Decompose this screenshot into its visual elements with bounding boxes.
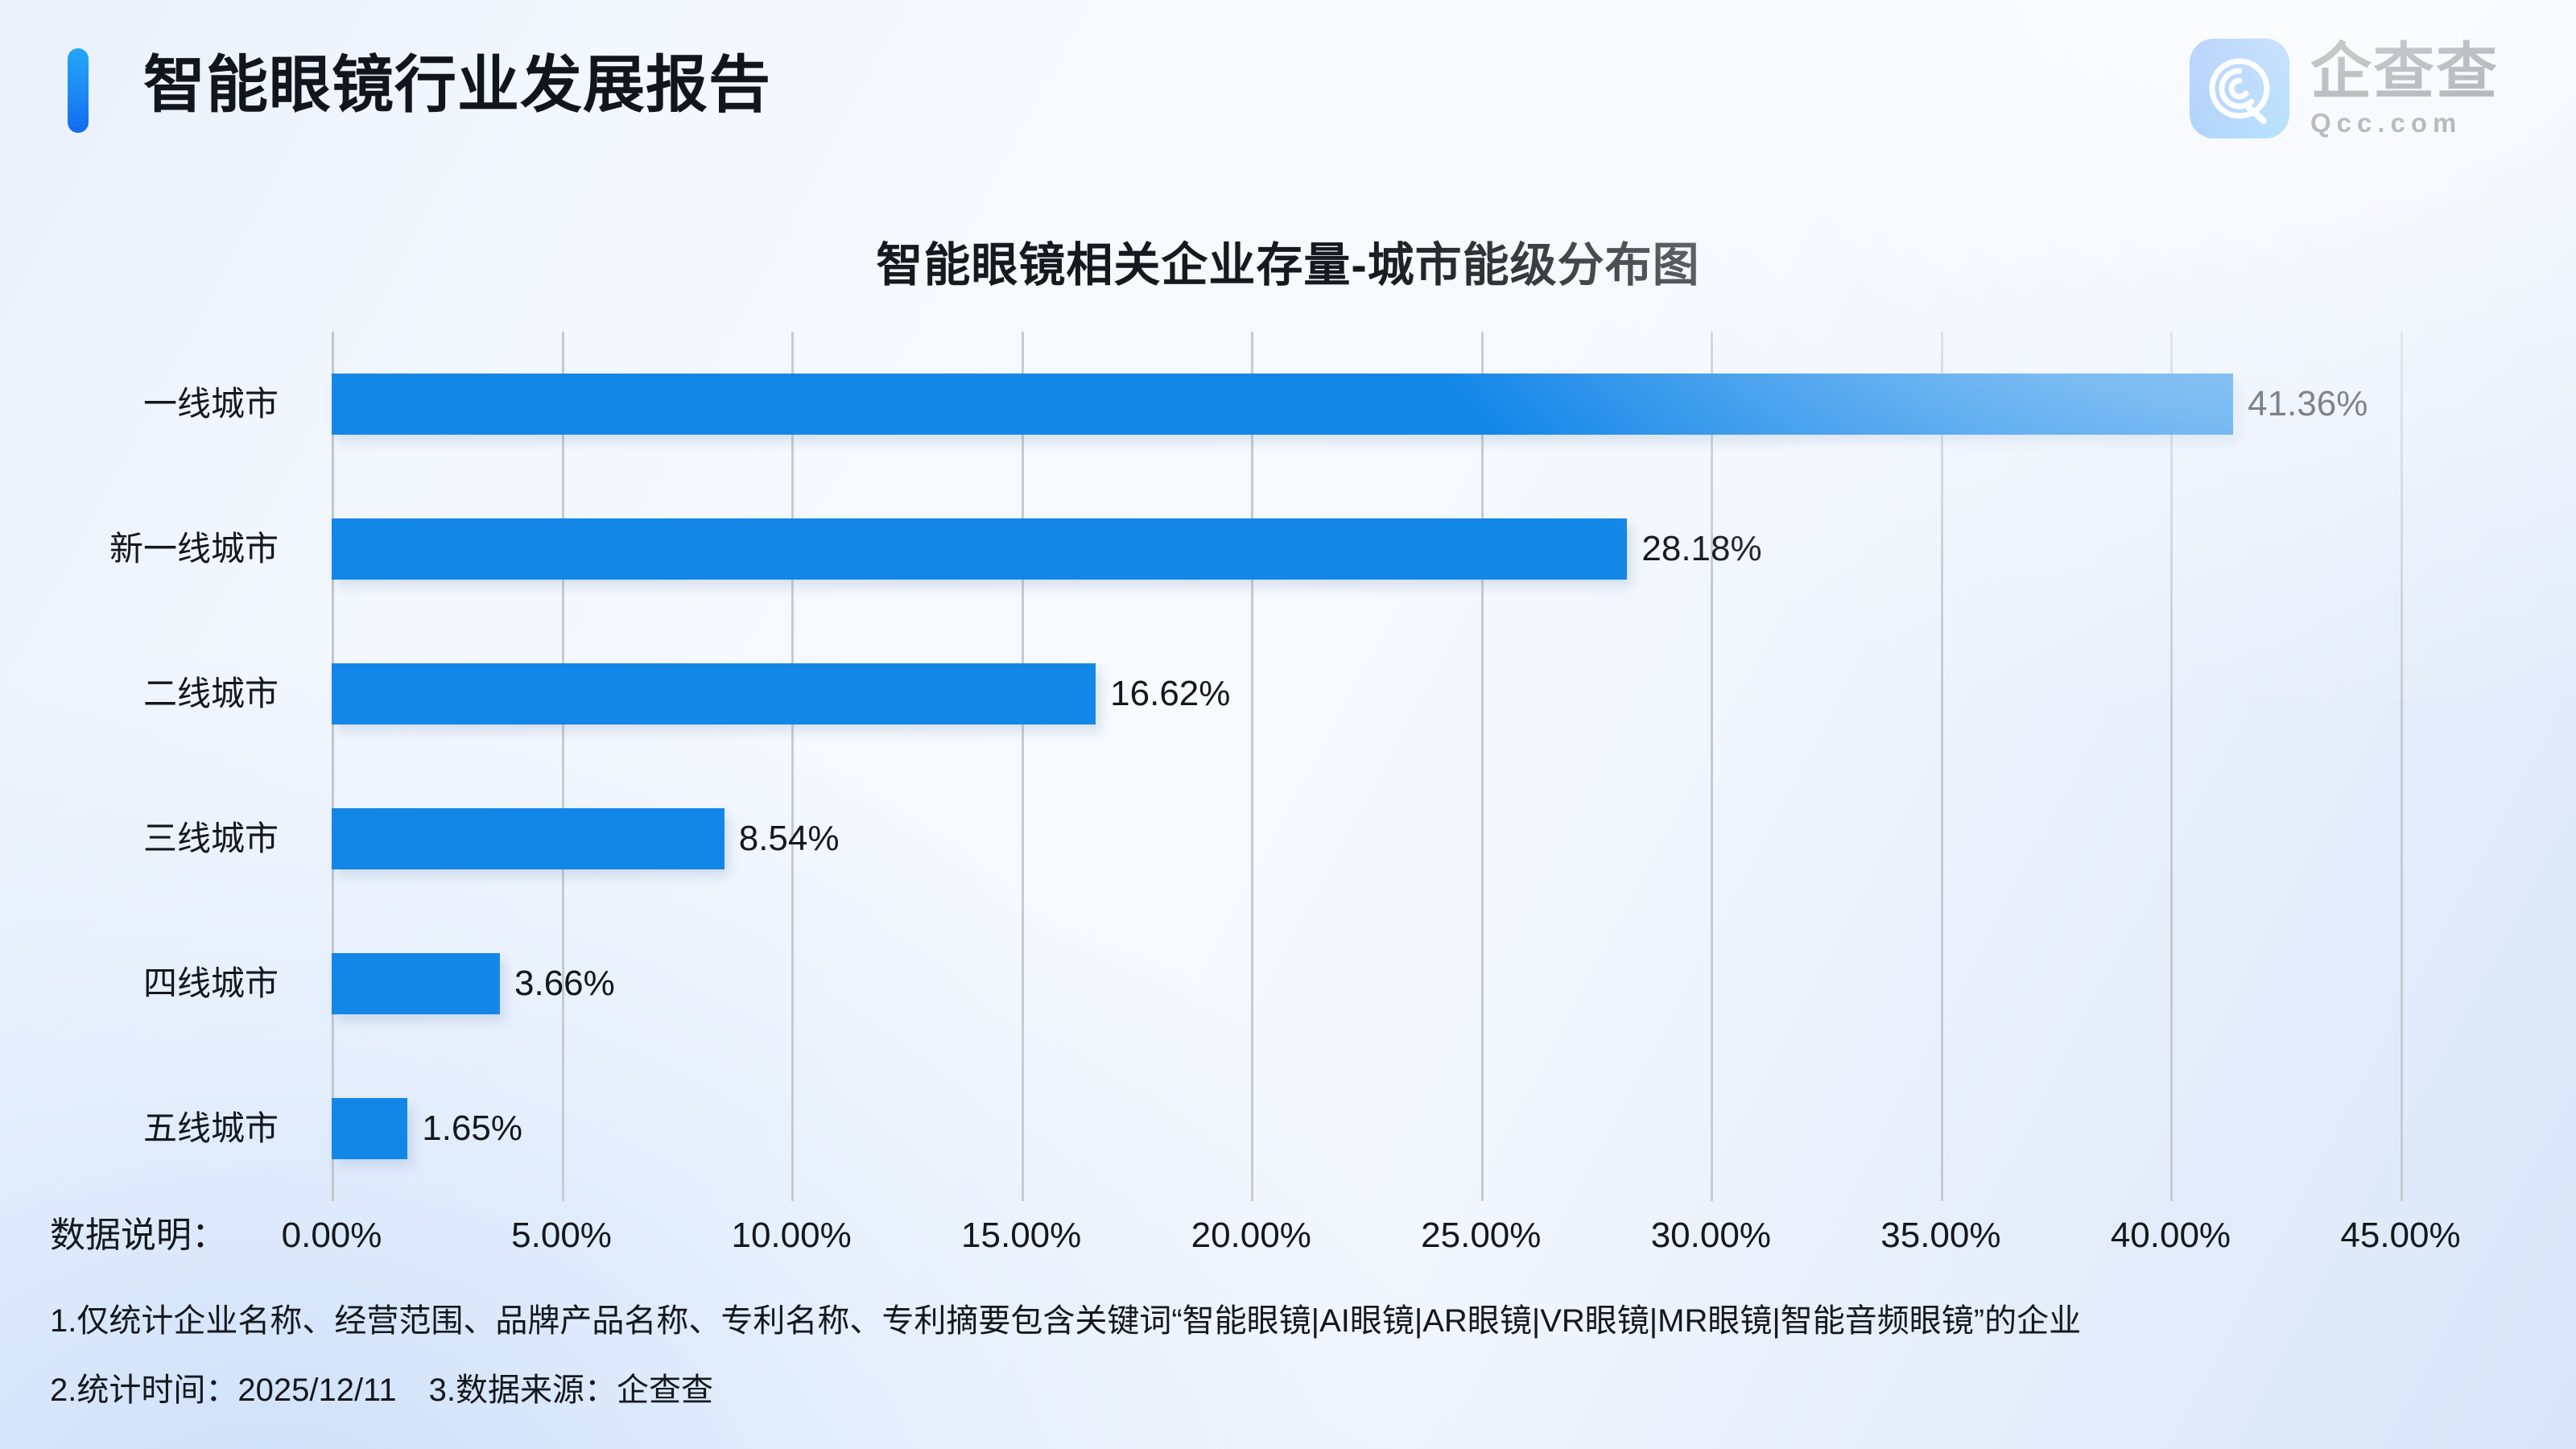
gridline (2401, 332, 2403, 1201)
x-axis-tick-label: 5.00% (511, 1212, 612, 1260)
data-note-caption: 数据说明： (50, 1212, 227, 1260)
x-axis-tick-label: 35.00% (1880, 1212, 2000, 1260)
y-axis-tick-label: 新一线城市 (109, 518, 279, 580)
chart-title: 智能眼镜相关企业存量-城市能级分布图 (0, 227, 2576, 295)
brand-wordmark: 企查查 Qcc.com (2310, 39, 2499, 138)
y-axis-tick-label: 一线城市 (143, 374, 279, 435)
bar[interactable] (332, 374, 2233, 435)
bar[interactable] (332, 663, 1096, 724)
bar-row: 8.54% (332, 766, 2401, 911)
x-axis-tick-label: 25.00% (1421, 1212, 1541, 1260)
bar[interactable] (332, 808, 724, 869)
x-axis-tick-label: 45.00% (2340, 1212, 2460, 1260)
x-axis-tick-label: 40.00% (2111, 1212, 2231, 1260)
x-axis-tick-label: 0.00% (282, 1212, 382, 1260)
data-note-1: 1.仅统计企业名称、经营范围、品牌产品名称、专利名称、专利摘要包含关键词“智能眼… (50, 1299, 2081, 1343)
x-axis-tick-label: 10.00% (731, 1212, 851, 1260)
report-page: 智能眼镜行业发展报告 企查查 Qcc.com 智能眼镜相关企业存量-城市能级分布… (0, 0, 2576, 1449)
page-header: 智能眼镜行业发展报告 企查查 Qcc.com (0, 0, 2576, 201)
x-axis-tick-label: 15.00% (961, 1212, 1081, 1260)
bar[interactable] (332, 518, 1627, 580)
bar-value-label: 28.18% (1627, 518, 1761, 580)
brand-logo: 企查查 Qcc.com (2190, 34, 2499, 142)
bar[interactable] (332, 1098, 407, 1159)
y-axis-tick-label: 二线城市 (143, 663, 279, 724)
bar-row: 28.18% (332, 477, 2401, 621)
bar[interactable] (332, 953, 500, 1014)
qcc-q-logo-icon (2190, 39, 2289, 138)
brand-name-en: Qcc.com (2310, 108, 2499, 138)
bar-value-label: 16.62% (1096, 663, 1230, 724)
bar-row: 41.36% (332, 332, 2401, 477)
brand-name-cn: 企查查 (2310, 39, 2499, 106)
x-axis-tick-label: 30.00% (1651, 1212, 1771, 1260)
bar-value-label: 41.36% (2233, 374, 2368, 435)
title-accent-bar (68, 48, 89, 133)
bar-row: 16.62% (332, 621, 2401, 766)
data-note-2: 2.统计时间：2025/12/11 3.数据来源：企查查 (50, 1368, 713, 1412)
x-axis-tick-label: 20.00% (1191, 1212, 1311, 1260)
bar-value-label: 1.65% (407, 1098, 522, 1159)
y-axis-labels: 一线城市新一线城市二线城市三线城市四线城市五线城市 (0, 332, 306, 1201)
bar-value-label: 3.66% (500, 953, 615, 1014)
chart-plot-area: 41.36%28.18%16.62%8.54%3.66%1.65% (332, 332, 2401, 1201)
bar-row: 1.65% (332, 1056, 2401, 1201)
bar-value-label: 8.54% (724, 808, 840, 869)
y-axis-tick-label: 五线城市 (143, 1098, 279, 1159)
y-axis-tick-label: 四线城市 (143, 953, 279, 1014)
x-axis-labels: 0.00%5.00%10.00%15.00%20.00%25.00%30.00%… (0, 1212, 2576, 1268)
page-title: 智能眼镜行业发展报告 (143, 37, 771, 134)
bar-row: 3.66% (332, 911, 2401, 1056)
y-axis-tick-label: 三线城市 (143, 808, 279, 869)
